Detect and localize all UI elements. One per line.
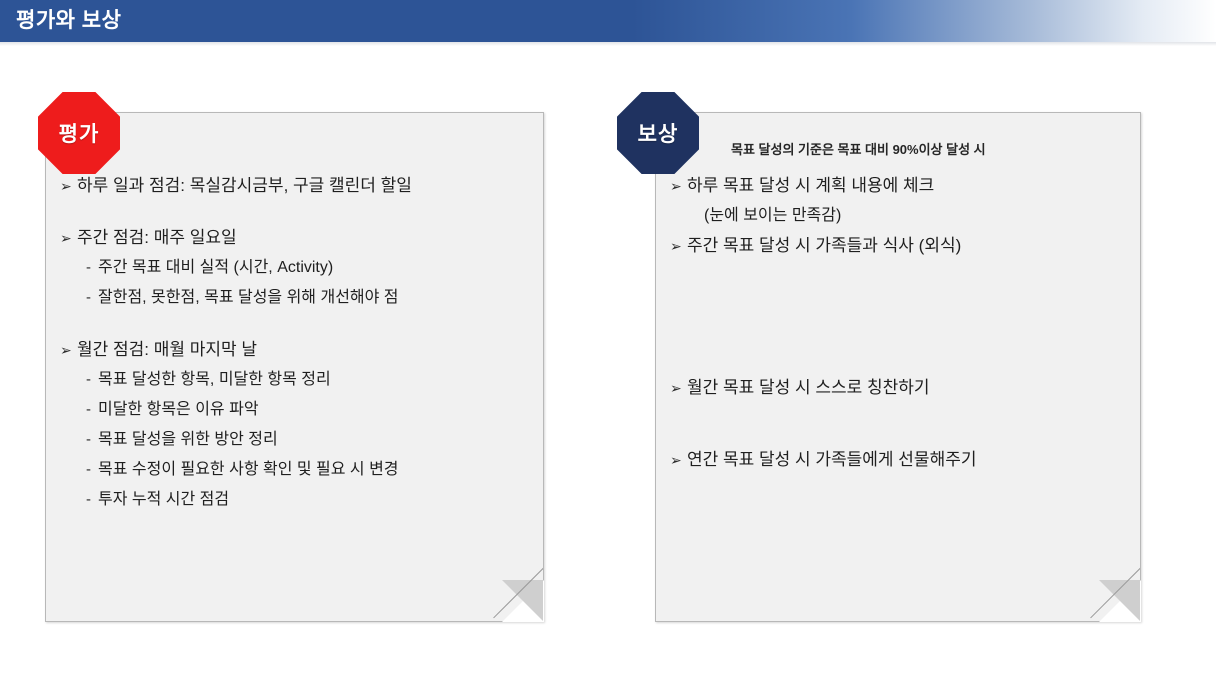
- list-item-label: 목표 수정이 필요한 사항 확인 및 필요 시 변경: [98, 455, 399, 485]
- dash-bullet-icon: -: [86, 425, 98, 455]
- list-gap: [670, 261, 977, 373]
- reward-criteria-note: 목표 달성의 기준은 목표 대비 90%이상 달성 시: [731, 139, 986, 158]
- list-item: (눈에 보이는 만족감): [687, 201, 977, 231]
- list-item: ➢주간 점검: 매주 일요일: [60, 223, 412, 253]
- list-item: ➢월간 점검: 매월 마지막 날: [60, 335, 412, 365]
- list-item-label: 투자 누적 시간 점검: [98, 485, 229, 515]
- list-item: -투자 누적 시간 점검: [86, 485, 412, 515]
- evaluation-bullet-list: ➢하루 일과 점검: 목실감시금부, 구글 캘린더 할일➢주간 점검: 매주 일…: [60, 171, 412, 515]
- arrow-bullet-icon: ➢: [670, 231, 687, 261]
- folded-corner-icon: [1099, 580, 1140, 621]
- list-item: -목표 달성한 항목, 미달한 항목 정리: [86, 365, 412, 395]
- reward-bullet-list: ➢하루 목표 달성 시 계획 내용에 체크(눈에 보이는 만족감)➢주간 목표 …: [670, 171, 977, 475]
- card-evaluation: ➢하루 일과 점검: 목실감시금부, 구글 캘린더 할일➢주간 점검: 매주 일…: [45, 112, 544, 622]
- dash-bullet-icon: -: [86, 485, 98, 515]
- list-item-label: 목표 달성한 항목, 미달한 항목 정리: [98, 365, 331, 395]
- dash-bullet-icon: -: [86, 283, 98, 313]
- slide-header-band: [0, 0, 1216, 42]
- list-item-label: 월간 목표 달성 시 스스로 칭찬하기: [687, 373, 930, 403]
- list-item-label: (눈에 보이는 만족감): [704, 201, 841, 231]
- dash-bullet-icon: -: [86, 455, 98, 485]
- list-item: ➢연간 목표 달성 시 가족들에게 선물해주기: [670, 445, 977, 475]
- list-item-label: 주간 목표 달성 시 가족들과 식사 (외식): [687, 231, 961, 261]
- card-reward: 목표 달성의 기준은 목표 대비 90%이상 달성 시 ➢하루 목표 달성 시 …: [655, 112, 1141, 622]
- dash-bullet-icon: -: [86, 253, 98, 283]
- list-item-label: 주간 목표 대비 실적 (시간, Activity): [98, 253, 333, 283]
- list-item: ➢하루 목표 달성 시 계획 내용에 체크: [670, 171, 977, 201]
- badge-evaluation-label: 평가: [59, 118, 100, 148]
- arrow-bullet-icon: ➢: [670, 171, 687, 201]
- list-item-label: 연간 목표 달성 시 가족들에게 선물해주기: [687, 445, 977, 475]
- dash-bullet-icon: -: [86, 395, 98, 425]
- list-item: ➢하루 일과 점검: 목실감시금부, 구글 캘린더 할일: [60, 171, 412, 201]
- list-item-label: 미달한 항목은 이유 파악: [98, 395, 259, 425]
- list-item-label: 목표 달성을 위한 방안 정리: [98, 425, 278, 455]
- page-title: 평가와 보상: [16, 7, 121, 35]
- arrow-bullet-icon: ➢: [60, 335, 77, 365]
- list-item-label: 주간 점검: 매주 일요일: [77, 223, 237, 253]
- badge-evaluation: 평가: [38, 92, 120, 174]
- folded-corner-icon: [502, 580, 543, 621]
- list-item-label: 하루 일과 점검: 목실감시금부, 구글 캘린더 할일: [77, 171, 412, 201]
- list-item-label: 잘한점, 못한점, 목표 달성을 위해 개선해야 점: [98, 283, 399, 313]
- dash-bullet-icon: -: [86, 365, 98, 395]
- list-gap: [670, 403, 977, 445]
- list-item: -잘한점, 못한점, 목표 달성을 위해 개선해야 점: [86, 283, 412, 313]
- list-item: -주간 목표 대비 실적 (시간, Activity): [86, 253, 412, 283]
- arrow-bullet-icon: ➢: [60, 223, 77, 253]
- list-item: ➢월간 목표 달성 시 스스로 칭찬하기: [670, 373, 977, 403]
- list-item-label: 하루 목표 달성 시 계획 내용에 체크: [687, 171, 934, 201]
- list-gap: [60, 313, 412, 335]
- arrow-bullet-icon: ➢: [670, 373, 687, 403]
- list-item: -미달한 항목은 이유 파악: [86, 395, 412, 425]
- list-item: ➢주간 목표 달성 시 가족들과 식사 (외식): [670, 231, 977, 261]
- header-shadow: [0, 42, 1216, 46]
- list-gap: [60, 201, 412, 223]
- arrow-bullet-icon: ➢: [670, 445, 687, 475]
- list-item-label: 월간 점검: 매월 마지막 날: [77, 335, 257, 365]
- arrow-bullet-icon: ➢: [60, 171, 77, 201]
- badge-reward-label: 보상: [638, 118, 679, 148]
- list-item: -목표 달성을 위한 방안 정리: [86, 425, 412, 455]
- list-item: -목표 수정이 필요한 사항 확인 및 필요 시 변경: [86, 455, 412, 485]
